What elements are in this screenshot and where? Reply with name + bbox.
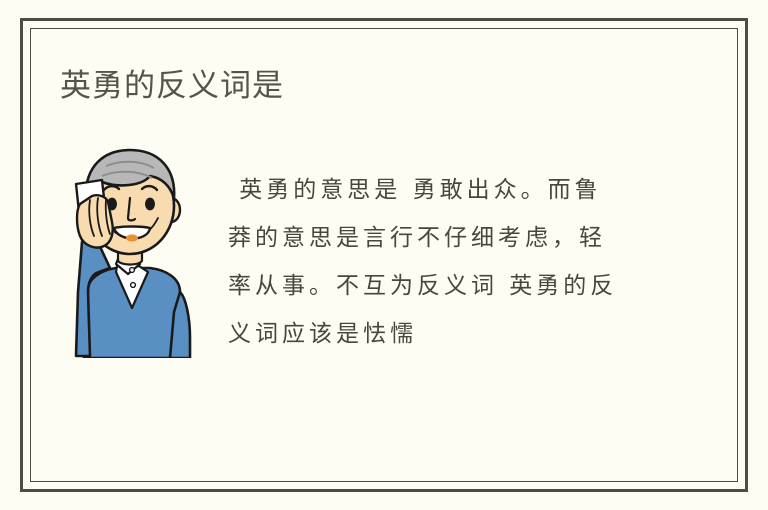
body-line: 义词应该是怯懦	[228, 310, 656, 358]
body-line: 英勇的意思是 勇敢出众。而鲁	[228, 166, 656, 214]
page-title: 英勇的反义词是	[60, 66, 284, 106]
body-line: 率从事。不互为反义词 英勇的反	[228, 262, 656, 310]
document-page: 英勇的反义词是	[0, 0, 768, 510]
body-line: 莽的意思是言行不仔细考虑，轻	[228, 214, 656, 262]
elderly-man-on-phone-illustration	[58, 142, 198, 358]
article-body: 英勇的意思是 勇敢出众。而鲁 莽的意思是言行不仔细考虑，轻 率从事。不互为反义词…	[228, 166, 656, 358]
